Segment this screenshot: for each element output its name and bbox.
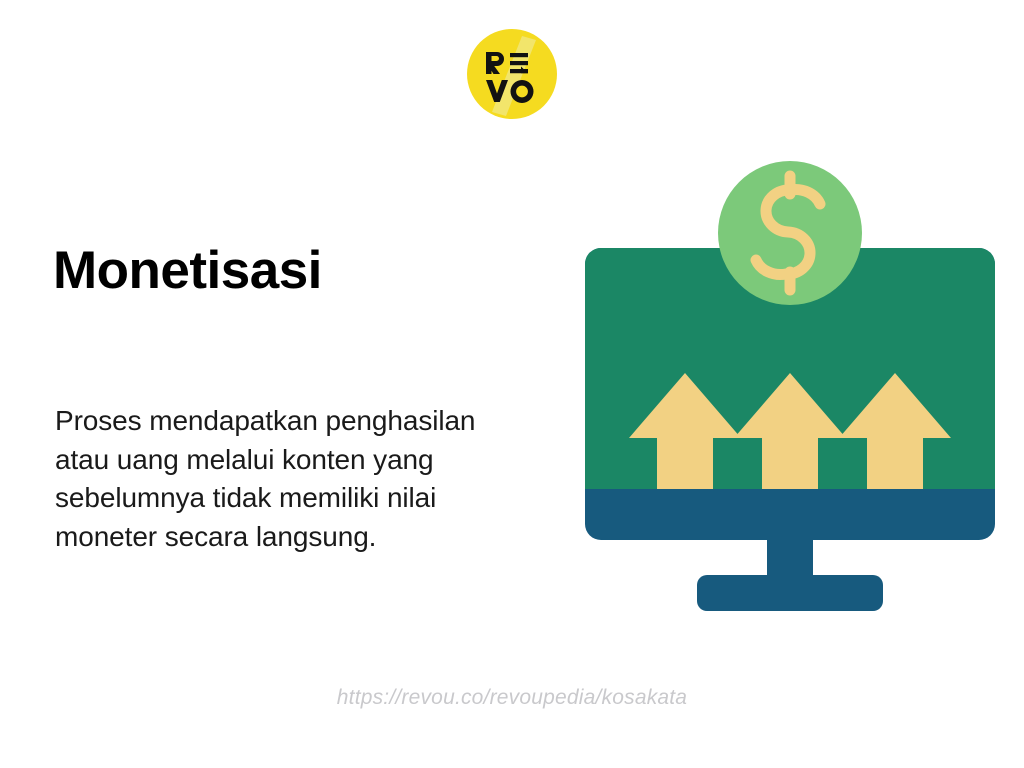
- source-url[interactable]: https://revou.co/revoupedia/kosakata: [0, 686, 1024, 710]
- dollar-coin-icon: [718, 161, 862, 305]
- up-arrows-group: [629, 373, 951, 489]
- monitor-stand-neck: [767, 540, 813, 580]
- monitor-stand-base: [697, 575, 883, 611]
- slide-canvas: Monetisasi Proses mendapatkan penghasila…: [0, 0, 1024, 768]
- revou-logo[interactable]: [466, 28, 558, 120]
- definition-text: Proses mendapatkan penghasilan atau uang…: [55, 402, 525, 556]
- logo-letter-e-icon: [510, 53, 528, 73]
- page-title: Monetisasi: [53, 241, 513, 301]
- monetization-illustration: [575, 150, 1005, 615]
